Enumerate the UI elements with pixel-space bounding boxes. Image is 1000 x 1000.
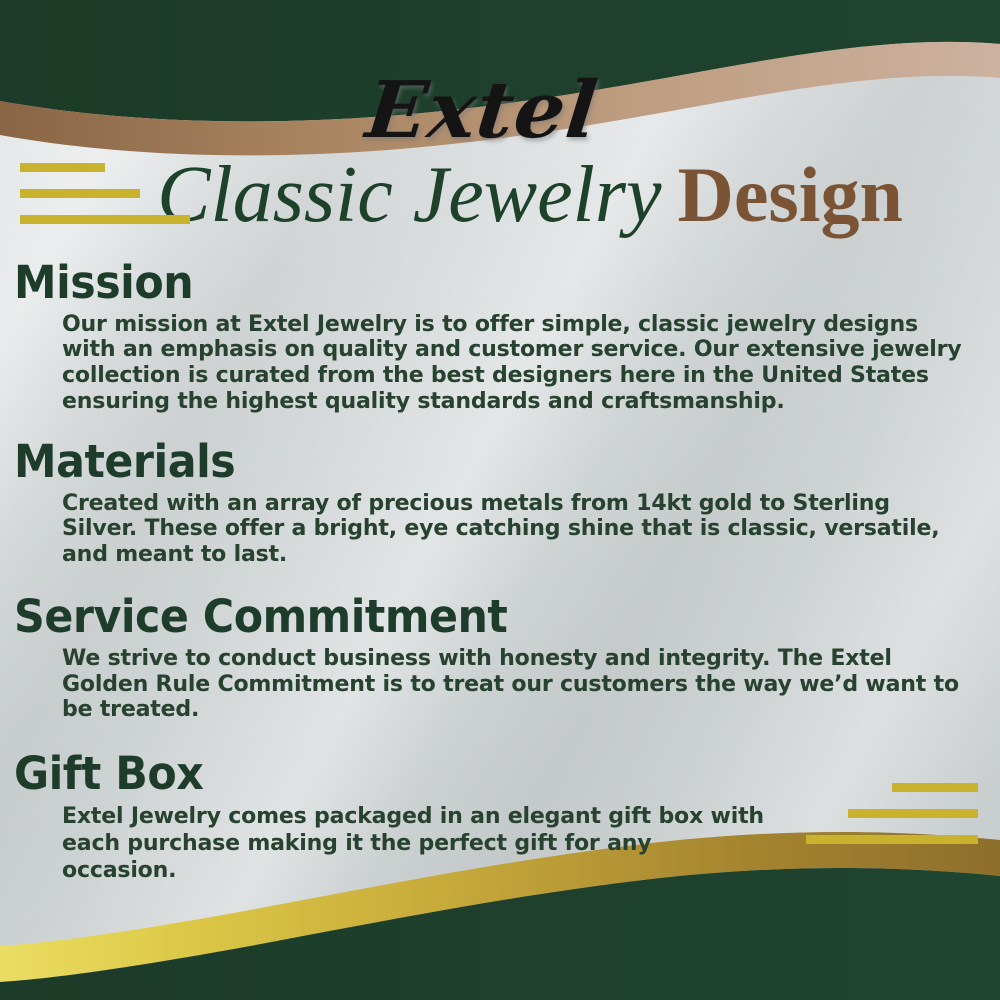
section-service-commitment: Service Commitment We strive to conduct …	[0, 592, 1000, 723]
section-heading-materials: Materials	[14, 437, 951, 487]
poster-canvas: Extel Classic JewelryDesign Mission Our …	[0, 0, 1000, 1000]
section-heading-service-commitment: Service Commitment	[14, 592, 951, 642]
accent-line	[20, 215, 190, 224]
accent-lines-top-left	[20, 163, 190, 241]
section-body-gift-box: Extel Jewelry comes packaged in an elega…	[62, 803, 771, 885]
section-gift-box: Gift Box Extel Jewelry comes packaged in…	[0, 749, 1000, 884]
content-sections: Mission Our mission at Extel Jewelry is …	[0, 258, 1000, 889]
section-heading-gift-box: Gift Box	[14, 749, 951, 799]
section-body-service-commitment: We strive to conduct business with hones…	[62, 646, 966, 724]
section-mission: Mission Our mission at Extel Jewelry is …	[0, 258, 1000, 415]
accent-line	[20, 189, 140, 198]
accent-line	[20, 163, 105, 172]
title-primary: Classic Jewelry	[157, 151, 661, 239]
title-secondary: Design	[677, 151, 902, 238]
section-body-mission: Our mission at Extel Jewelry is to offer…	[62, 312, 966, 416]
section-body-materials: Created with an array of precious metals…	[62, 491, 966, 569]
section-materials: Materials Created with an array of preci…	[0, 437, 1000, 568]
section-heading-mission: Mission	[14, 258, 951, 308]
